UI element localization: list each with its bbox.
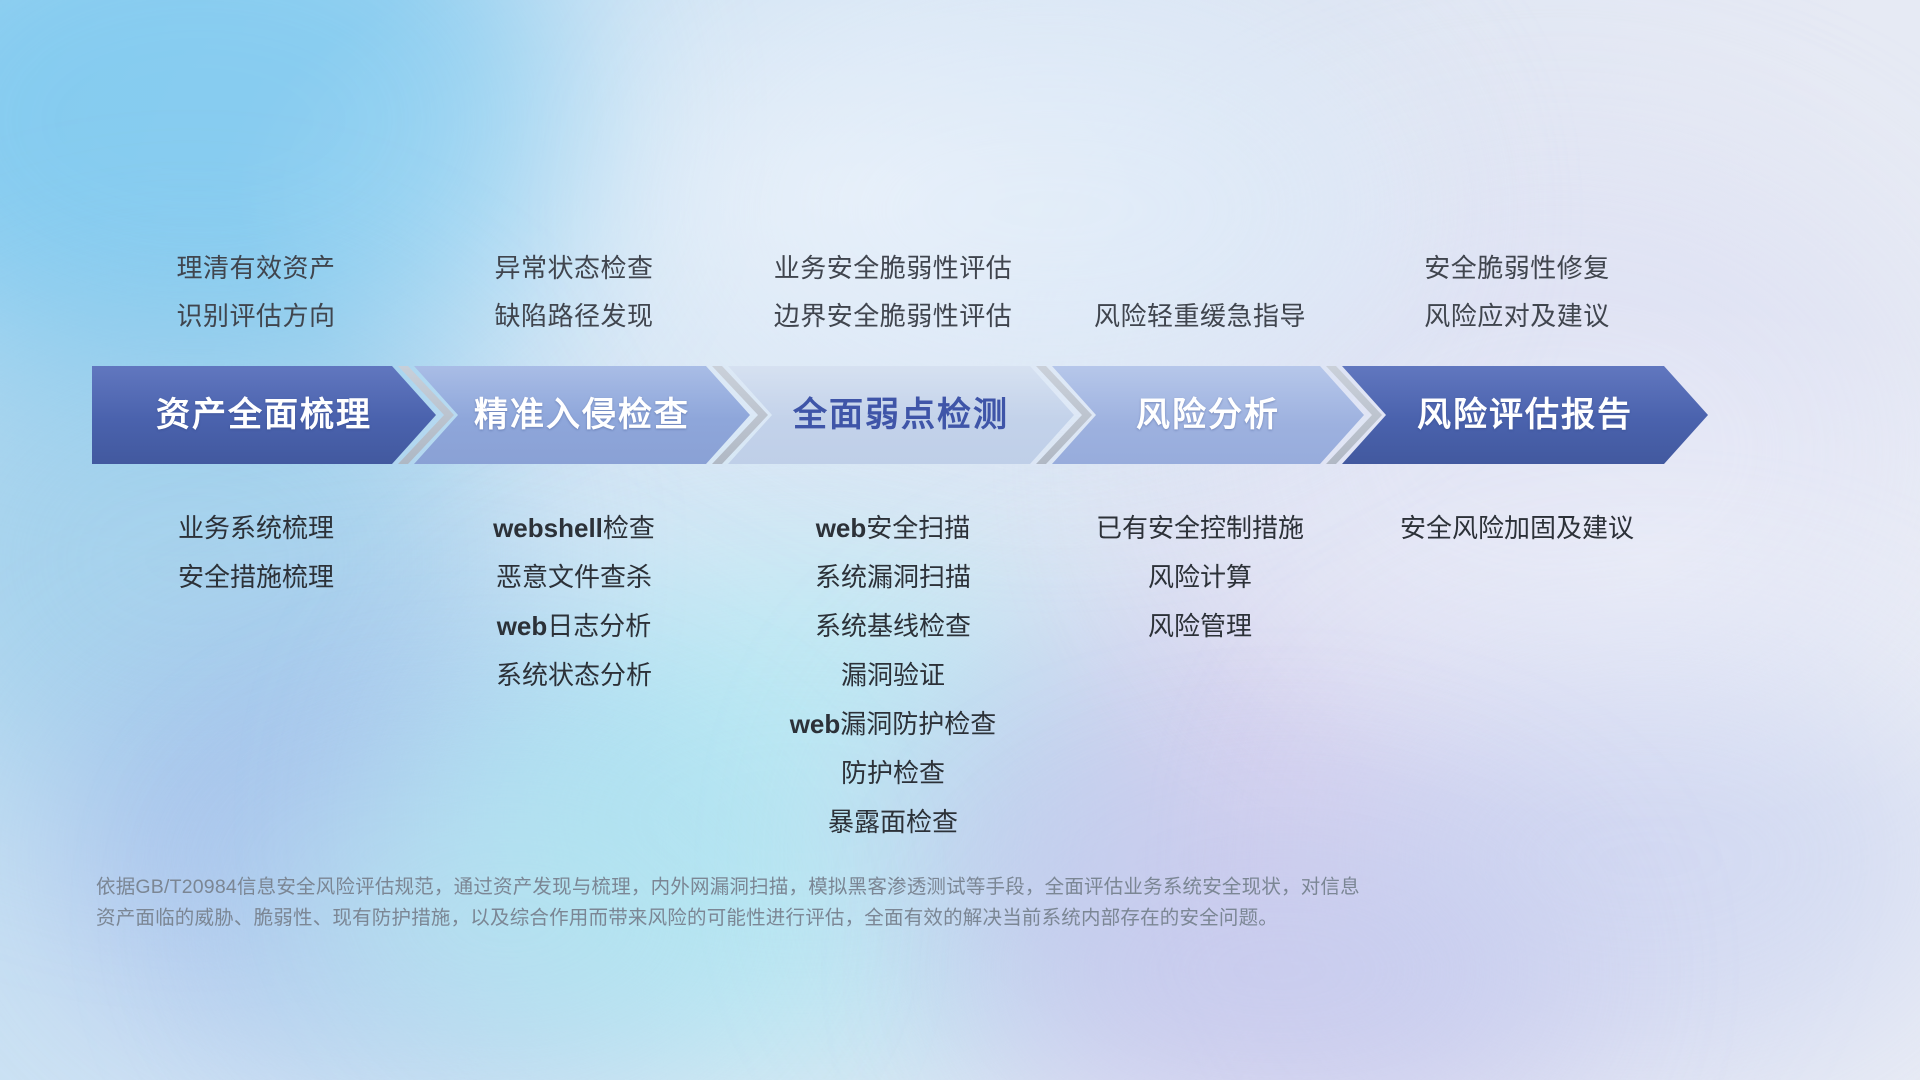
stage-chevron-intrusion-check[interactable]: 精准入侵检查: [414, 366, 750, 464]
stage-title-risk-analysis: 风险分析: [1052, 366, 1364, 464]
bottom-item: 漏洞验证: [663, 651, 1123, 700]
bottom-item-text: 日志分析: [547, 611, 651, 641]
bottom-item-text: 漏洞防护检查: [840, 709, 996, 739]
bottom-item-keyword: webshell: [493, 513, 603, 543]
top-notes-risk-report: 安全脆弱性修复风险应对及建议: [1287, 244, 1747, 340]
bottom-item: 安全风险加固及建议: [1287, 504, 1747, 553]
bottom-item-text: 业务系统梳理: [178, 513, 334, 543]
stage-title-weakness-detection: 全面弱点检测: [728, 366, 1074, 464]
bottom-item: 风险计算: [970, 553, 1430, 602]
bottom-item-text: 防护检查: [841, 758, 945, 788]
stage-chevron-asset-inventory[interactable]: 资产全面梳理: [92, 366, 436, 464]
bottom-items-risk-report: 安全风险加固及建议: [1287, 504, 1747, 553]
bottom-item-text: 风险管理: [1148, 611, 1252, 641]
stage-title-asset-inventory: 资产全面梳理: [92, 366, 436, 464]
process-flow-diagram: 理清有效资产识别评估方向异常状态检查缺陷路径发现业务安全脆弱性评估边界安全脆弱性…: [0, 0, 1920, 1080]
bottom-item: 暴露面检查: [663, 798, 1123, 847]
bottom-item-keyword: web: [816, 513, 867, 543]
bottom-item-text: 暴露面检查: [828, 807, 958, 837]
footer-line-1: 依据GB/T20984信息安全风险评估规范，通过资产发现与梳理，内外网漏洞扫描，…: [96, 872, 1596, 903]
stage-chevron-weakness-detection[interactable]: 全面弱点检测: [728, 366, 1074, 464]
bottom-item-text: 风险计算: [1148, 562, 1252, 592]
bottom-item-text: 安全扫描: [866, 513, 970, 543]
bottom-item-text: 安全风险加固及建议: [1400, 513, 1634, 543]
bottom-item-text: 漏洞验证: [841, 660, 945, 690]
top-note-item: 风险应对及建议: [1287, 292, 1747, 340]
chevron-band: 资产全面梳理精准入侵检查全面弱点检测风险分析风险评估报告: [0, 366, 1920, 464]
bottom-item: 风险管理: [970, 602, 1430, 651]
bottom-item-text: 恶意文件查杀: [496, 562, 652, 592]
bottom-item: web漏洞防护检查: [663, 700, 1123, 749]
bottom-item: 防护检查: [663, 749, 1123, 798]
bottom-item-keyword: web: [790, 709, 841, 739]
bottom-item-text: 检查: [603, 513, 655, 543]
bottom-item-text: 系统状态分析: [496, 660, 652, 690]
stage-chevron-risk-analysis[interactable]: 风险分析: [1052, 366, 1364, 464]
footer-description: 依据GB/T20984信息安全风险评估规范，通过资产发现与梳理，内外网漏洞扫描，…: [96, 872, 1596, 934]
bottom-item-text: 已有安全控制措施: [1096, 513, 1304, 543]
stage-chevron-risk-report[interactable]: 风险评估报告: [1342, 366, 1708, 464]
bottom-item-keyword: web: [497, 611, 548, 641]
top-note-item: 安全脆弱性修复: [1287, 244, 1747, 292]
bottom-item-text: 安全措施梳理: [178, 562, 334, 592]
stage-title-intrusion-check: 精准入侵检查: [414, 366, 750, 464]
footer-line-2: 资产面临的威胁、脆弱性、现有防护措施，以及综合作用而带来风险的可能性进行评估，全…: [96, 903, 1596, 934]
bottom-item-text: 系统漏洞扫描: [815, 562, 971, 592]
top-note-item: 业务安全脆弱性评估: [663, 244, 1123, 292]
stage-title-risk-report: 风险评估报告: [1342, 366, 1708, 464]
bottom-item-text: 系统基线检查: [815, 611, 971, 641]
